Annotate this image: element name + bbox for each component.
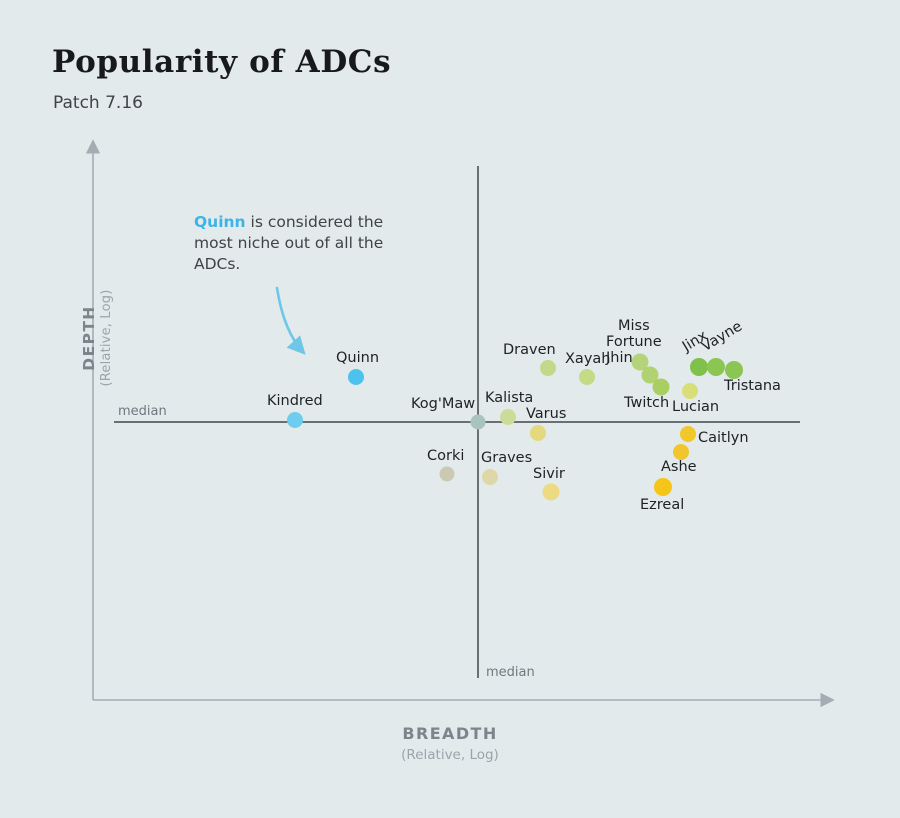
data-point[interactable] <box>680 426 696 442</box>
x-median-label: median <box>486 665 535 680</box>
data-point[interactable] <box>471 415 486 430</box>
y-axis-title: DEPTH <box>80 228 98 448</box>
point-label: Kindred <box>267 393 323 409</box>
point-label: Quinn <box>336 350 379 366</box>
point-label: Jhin <box>606 350 633 366</box>
point-label: MissFortune <box>606 318 662 350</box>
point-label: Caitlyn <box>698 430 749 446</box>
data-point[interactable] <box>682 383 698 399</box>
point-label: Kalista <box>485 390 533 406</box>
point-label: Twitch <box>624 395 669 411</box>
x-axis-subtitle: (Relative, Log) <box>0 747 900 763</box>
annotation-text: Quinn is considered the most niche out o… <box>194 212 394 275</box>
point-label: Kog'Maw <box>411 396 475 412</box>
data-point[interactable] <box>543 484 560 501</box>
data-points-group <box>287 354 743 501</box>
point-label: Xayah <box>565 351 610 367</box>
point-label: Tristana <box>724 378 781 394</box>
point-label: Corki <box>427 448 464 464</box>
point-label: Ezreal <box>640 497 684 513</box>
data-point[interactable] <box>440 467 455 482</box>
data-point[interactable] <box>482 469 498 485</box>
y-median-label: median <box>118 404 167 419</box>
data-point[interactable] <box>287 412 303 428</box>
data-point[interactable] <box>540 360 556 376</box>
point-label: Sivir <box>533 466 565 482</box>
data-point[interactable] <box>654 478 672 496</box>
data-point[interactable] <box>725 361 743 379</box>
data-point[interactable] <box>707 358 725 376</box>
data-point[interactable] <box>500 409 516 425</box>
x-axis-title-group: BREADTH (Relative, Log) <box>0 724 900 763</box>
point-label: Varus <box>526 406 566 422</box>
y-axis-title-group: DEPTH (Relative, Log) <box>80 228 120 448</box>
data-point[interactable] <box>653 379 670 396</box>
data-point[interactable] <box>690 358 708 376</box>
point-label: Ashe <box>661 459 697 475</box>
point-label: Lucian <box>672 399 719 415</box>
data-point[interactable] <box>530 425 546 441</box>
chart-canvas: Popularity of ADCs Patch 7.16 Quinn is c… <box>0 0 900 818</box>
annotation-arrow <box>277 288 303 352</box>
point-label: Graves <box>481 450 532 466</box>
data-point[interactable] <box>579 369 595 385</box>
data-point[interactable] <box>348 369 364 385</box>
point-label: Draven <box>503 342 556 358</box>
data-point[interactable] <box>673 444 689 460</box>
annotation-highlight: Quinn <box>194 213 246 231</box>
y-axis-subtitle: (Relative, Log) <box>99 228 114 448</box>
x-axis-title: BREADTH <box>0 724 900 743</box>
